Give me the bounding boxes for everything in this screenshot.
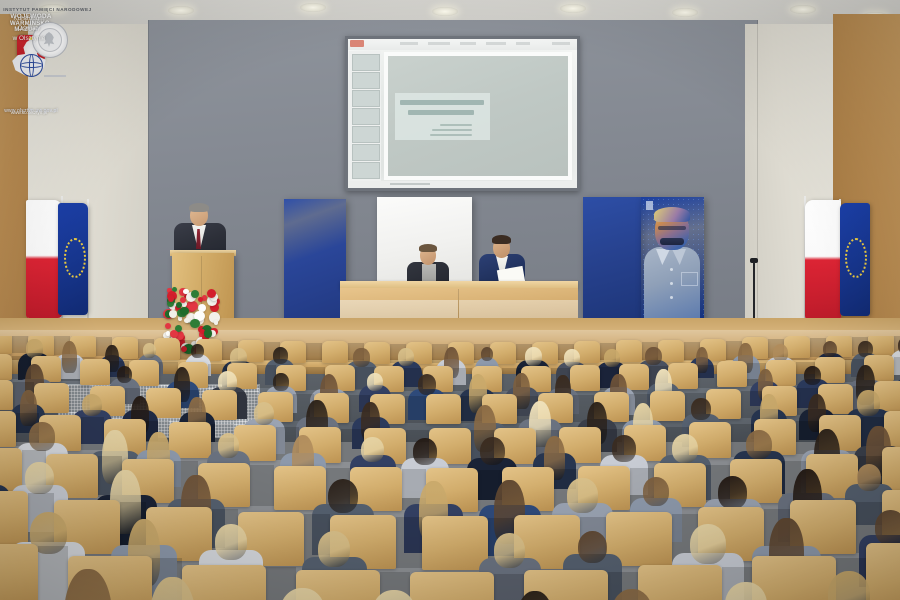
powerpoint-status-bar [348, 181, 577, 188]
audience-member-head [215, 524, 247, 560]
audience-seat[interactable] [80, 359, 110, 385]
audience-member-head [353, 348, 369, 366]
ribbon-item [486, 42, 506, 45]
audience-seat[interactable] [570, 365, 600, 391]
uniform-button [670, 296, 673, 299]
slide-thumbnail[interactable] [352, 72, 380, 89]
audience-member-head [578, 531, 607, 564]
slide-thumbnail[interactable] [352, 90, 380, 107]
microphone-stand-pole [753, 262, 755, 320]
audience-member-head [254, 402, 275, 425]
seat-divider [61, 358, 80, 381]
audience-seat[interactable] [638, 565, 722, 600]
audience-member-head [823, 341, 838, 357]
audience-seat[interactable] [322, 341, 348, 363]
eu-stars-icon [845, 238, 867, 278]
audience-member-head [857, 390, 880, 415]
audience-member-head [691, 398, 711, 420]
banner-kuratorium-line2: Oświaty [0, 25, 58, 32]
audience-member-head [612, 435, 636, 462]
slide-thumbnail[interactable] [352, 108, 380, 125]
audience-member-head [480, 437, 505, 465]
flower-petal [169, 310, 177, 318]
audience-seat[interactable] [658, 340, 684, 362]
flower-petal [214, 320, 219, 325]
audience-seat[interactable] [0, 411, 16, 447]
seat-divider [250, 465, 274, 506]
audience-member-head [746, 430, 772, 459]
audience-member-head [418, 374, 437, 395]
powerpoint-file-tab [350, 40, 364, 47]
pilsudski-hair [654, 207, 690, 222]
audience-member-head [367, 373, 383, 391]
pilsudski-brow [658, 226, 686, 230]
audience-member-head [494, 533, 525, 568]
globe-parallel-icon [20, 62, 43, 68]
ceiling-light [168, 6, 194, 15]
ceiling-light [300, 3, 326, 12]
audience-member-head [645, 347, 661, 365]
audience-member-head [804, 366, 821, 385]
audience-seat[interactable] [0, 354, 12, 380]
audience-member-head [875, 510, 900, 545]
audience-seat[interactable] [717, 361, 747, 387]
ribbon-item [516, 42, 530, 45]
audience-member-head [481, 347, 493, 361]
audience-member-head [273, 373, 289, 391]
uniform-button [670, 268, 673, 271]
slide-thumbnail[interactable] [352, 144, 380, 161]
audience-member-head [191, 344, 204, 358]
wall-seam [148, 20, 149, 320]
audience-seating [0, 336, 900, 600]
audience-member-head [413, 438, 437, 465]
speaker-hair [189, 203, 209, 212]
banner-ipn-title: INSTYTUT PAMIĘCI NARODOWEJ [0, 7, 95, 12]
panelist-2-hair [492, 235, 511, 244]
audience-member-head [273, 347, 288, 364]
banner-kuratorium-line3: w Olsztynie [0, 35, 58, 42]
panelist-1-hair [419, 244, 437, 252]
audience-seat[interactable] [866, 543, 900, 600]
audience-member-head [567, 478, 597, 512]
seat-divider [396, 517, 422, 568]
audience-member-head [117, 366, 132, 383]
eu-stars-icon [64, 238, 86, 278]
audience-seat[interactable] [0, 491, 28, 545]
seat-divider [81, 417, 104, 450]
ribbon-item [428, 42, 450, 45]
slide-title-line-2 [408, 110, 474, 115]
audience-member-head [643, 477, 669, 506]
slide-thumbnail[interactable] [352, 126, 380, 143]
audience-member-head [143, 343, 156, 358]
flower-petal [180, 307, 188, 315]
flower-petal [165, 323, 171, 329]
audience-seat[interactable] [0, 336, 12, 354]
ceiling-light [560, 4, 586, 13]
flower-petal [184, 318, 190, 324]
slide-subtitle-line-1 [440, 124, 472, 126]
audience-member-head [672, 434, 698, 464]
audience-member-head [318, 531, 350, 567]
audience-seat[interactable] [274, 466, 326, 510]
flag-poland-left [26, 200, 62, 318]
banner-kuratorium-line1: Kuratorium [0, 15, 58, 22]
audience-member-head [718, 476, 747, 509]
audience-seat[interactable] [0, 544, 38, 600]
uniform-button [670, 282, 673, 285]
flower-petal [198, 297, 203, 302]
audience-seat[interactable] [182, 565, 266, 600]
audience-member-head [857, 464, 882, 492]
audience-member-head [398, 348, 414, 366]
seat-divider [306, 343, 322, 362]
slide-subtitle-line-2 [432, 129, 472, 131]
audience-member-head [604, 349, 620, 367]
ceiling-light [672, 8, 698, 17]
flower-petal [190, 319, 199, 328]
ribbon-item [400, 42, 418, 45]
uniform-pocket [681, 272, 698, 286]
audience-member-head [29, 422, 55, 451]
seat-divider [894, 357, 900, 380]
slide-thumbnail[interactable] [352, 162, 380, 179]
seat-divider [38, 546, 68, 600]
banner-ipn-footer [44, 75, 66, 77]
poster-logo-icon [646, 201, 653, 210]
status-bar-text [390, 183, 430, 185]
banner-kuratorium [583, 197, 641, 325]
audience-seat[interactable] [410, 572, 494, 600]
audience-member-head [525, 347, 542, 366]
audience-member-head [361, 437, 384, 463]
audience-seat[interactable] [426, 394, 461, 424]
conference-hall-photo: WOJEWODA WARMIŃSKO-MAZURSKI www.olsztyn.… [0, 0, 900, 600]
ceiling-light [790, 5, 816, 14]
ribbon-item [552, 42, 570, 45]
audience-seat[interactable] [0, 380, 13, 410]
slide-subtitle-line-3 [430, 134, 472, 136]
seat-divider [698, 365, 717, 388]
audience-seat[interactable] [616, 340, 642, 362]
flag-poland-right [805, 200, 841, 320]
slide-title-line-1 [400, 100, 484, 105]
audience-member-head [25, 462, 53, 494]
pilsudski-moustache [660, 238, 684, 245]
audience-seat[interactable] [422, 516, 488, 570]
audience-member-head [218, 433, 240, 458]
audience-member-head [690, 524, 726, 564]
banner-kuratorium-url: www.ko.olsztyn.pl [0, 110, 58, 115]
audience-seat[interactable] [650, 391, 685, 421]
flower-petal [187, 301, 197, 311]
audience-member-head [82, 394, 102, 417]
ribbon-item [460, 42, 476, 45]
banner-wojewoda [284, 199, 346, 325]
wall-seam [757, 20, 758, 320]
ceiling-light [432, 7, 458, 16]
seat-divider [494, 574, 524, 600]
audience-member-head [328, 479, 359, 513]
slide-thumbnail[interactable] [352, 54, 380, 71]
seat-divider [405, 396, 426, 423]
